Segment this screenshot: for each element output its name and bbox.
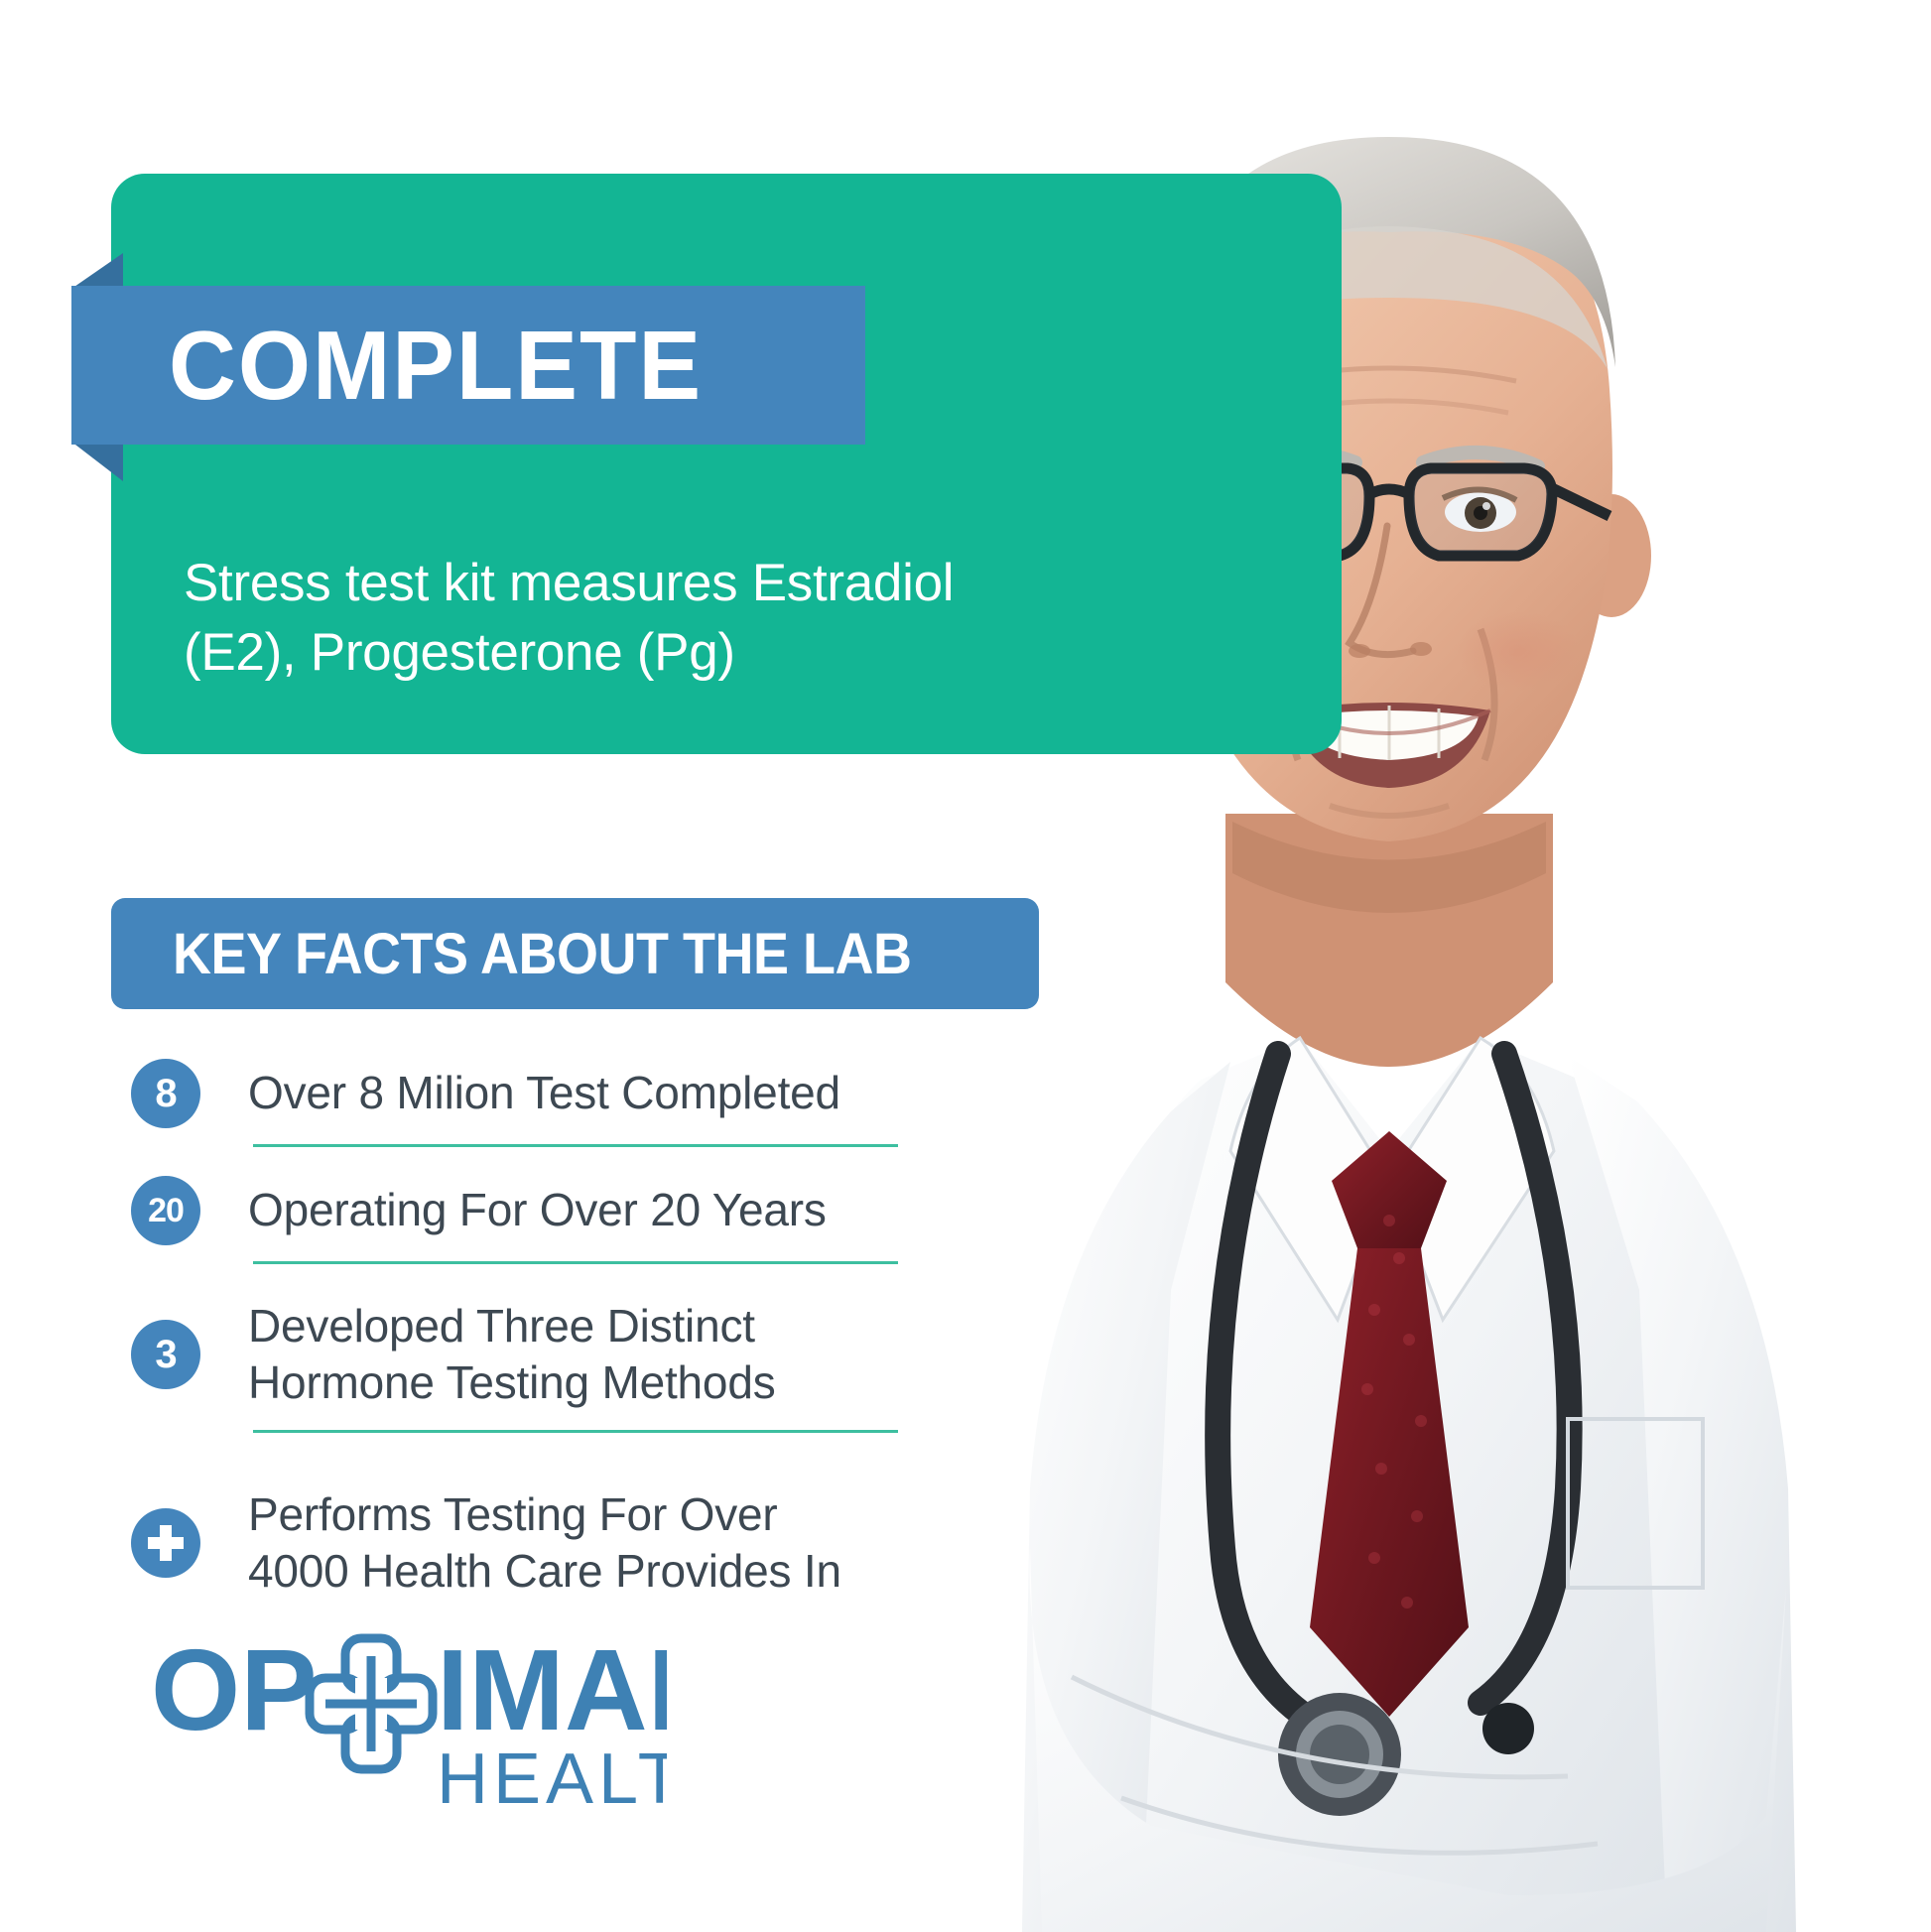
list-item: 20 Operating For Over 20 Years [119,1159,943,1262]
fact-badge-8: 8 [131,1059,200,1128]
key-facts-title: KEY FACTS ABOUT THE LAB [173,921,911,987]
logo-word-right: IMAL [437,1625,667,1754]
fact-text: Over 8 Milion Test Completed [248,1065,840,1121]
key-facts-banner: KEY FACTS ABOUT THE LAB [111,898,1039,1009]
fact-text: Operating For Over 20 Years [248,1182,827,1238]
brand-logo: OP IMAL HEALTH [151,1622,667,1821]
hero-description: Stress test kit measures Estradiol (E2),… [184,549,1057,688]
logo-tagline: HEALTH [437,1739,667,1819]
medical-cross-icon [310,1638,433,1769]
complete-ribbon: COMPLETE [71,286,865,445]
fact-text: Developed Three Distinct Hormone Testing… [248,1298,863,1411]
fact-divider [253,1261,898,1264]
optimal-health-logo: OP IMAL HEALTH [151,1622,667,1821]
list-item: 8 Over 8 Milion Test Completed [119,1042,943,1145]
plus-icon [148,1525,184,1561]
fact-text: Performs Testing For Over 4000 Health Ca… [248,1486,883,1600]
list-item: Performs Testing For Over 4000 Health Ca… [119,1469,943,1617]
logo-word-left: OP [151,1625,318,1754]
key-facts-list: 8 Over 8 Milion Test Completed 20 Operat… [119,1042,943,1617]
fact-badge-20: 20 [131,1176,200,1245]
list-item: 3 Developed Three Distinct Hormone Testi… [119,1280,943,1429]
fact-badge-3: 3 [131,1320,200,1389]
fact-divider [253,1430,898,1433]
fact-badge-plus [131,1508,200,1578]
fact-divider [253,1144,898,1147]
complete-label: COMPLETE [169,317,703,414]
